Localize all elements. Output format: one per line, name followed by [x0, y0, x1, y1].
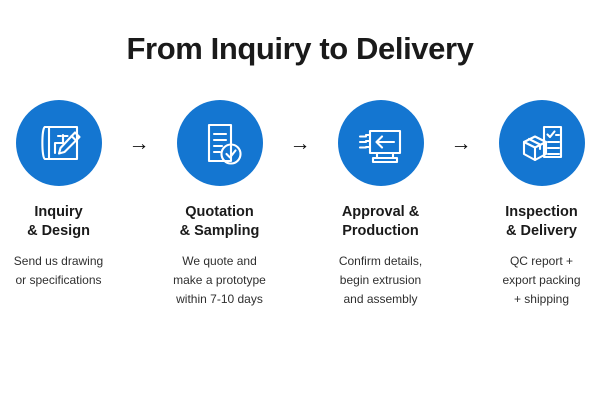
step-icon-circle: [499, 100, 585, 186]
process-step-inspection-delivery[interactable]: Inspection & Delivery QC report + export…: [483, 100, 600, 309]
extrusion-press-icon: [355, 117, 407, 169]
process-step-inquiry-design[interactable]: Inquiry & Design Send us drawing or spec…: [0, 100, 117, 290]
box-checklist-icon: [516, 117, 568, 169]
step-description: Send us drawing or specifications: [14, 252, 103, 290]
step-heading: Approval & Production: [342, 203, 419, 241]
step-icon-circle: [177, 100, 263, 186]
arrow-right-icon: →: [117, 100, 161, 186]
arrow-right-icon: →: [278, 100, 322, 186]
step-icon-circle: [338, 100, 424, 186]
step-description: Confirm details, begin extrusion and ass…: [339, 252, 422, 309]
step-heading: Inquiry & Design: [27, 203, 90, 241]
document-check-icon: [194, 117, 246, 169]
process-step-approval-production[interactable]: Approval & Production Confirm details, b…: [322, 100, 439, 309]
step-description: We quote and make a prototype within 7-1…: [173, 252, 266, 309]
process-step-quotation-sampling[interactable]: Quotation & Sampling We quote and make a…: [161, 100, 278, 309]
infographic-root: From Inquiry to Delivery Inquiry &: [0, 0, 600, 400]
step-description: QC report + export packing + shipping: [502, 252, 580, 309]
step-heading: Inspection & Delivery: [505, 203, 578, 241]
blueprint-pencil-icon: [33, 117, 85, 169]
process-steps-row: Inquiry & Design Send us drawing or spec…: [0, 100, 600, 309]
arrow-right-icon: →: [439, 100, 483, 186]
page-title: From Inquiry to Delivery: [0, 32, 600, 66]
step-icon-circle: [16, 100, 102, 186]
step-heading: Quotation & Sampling: [180, 203, 260, 241]
